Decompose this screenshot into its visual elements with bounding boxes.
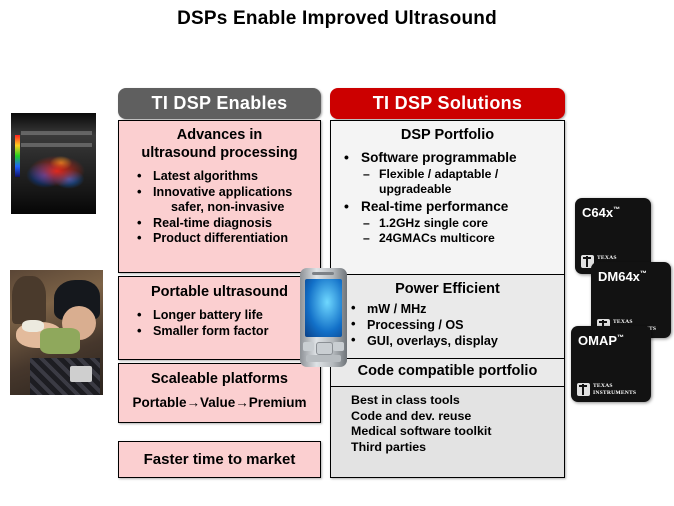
tab-ti-dsp-solutions[interactable]: TI DSP Solutions (330, 88, 565, 119)
section-power-efficient-title: Power Efficient (331, 275, 564, 297)
panel-portable-title: Portable ultrasound (119, 277, 320, 301)
panel-scaleable-platforms: Scaleable platforms Portable→Value→Premi… (118, 363, 321, 423)
panel-scaleable-title: Scaleable platforms (119, 364, 320, 388)
pda-speaker (312, 272, 334, 275)
pda-screen (305, 279, 342, 337)
ti-wordmark: TEXAS INSTRUMENTS (593, 383, 636, 396)
ultrasound-scan-render (11, 113, 96, 214)
list-item: 24GMACs multicore (341, 231, 564, 246)
list-item: mW / MHz (341, 301, 564, 317)
pda-button-left (303, 342, 314, 351)
ultrasound-band (21, 131, 92, 135)
list-item: Best in class tools (351, 393, 564, 409)
section-code-compatible-header: Code compatible portfolio (331, 359, 564, 387)
panel-faster-title: Faster time to market (119, 442, 320, 477)
list-item: Flexible / adaptable / (341, 167, 564, 182)
photo-garment (40, 328, 80, 354)
list-item: Processing / OS (341, 317, 564, 333)
panel-scaleable-progression: Portable→Value→Premium (119, 388, 320, 410)
list-item: Latest algorithms (137, 169, 320, 185)
chip-c64x-label: C64x™ (582, 205, 620, 220)
list-item: Longer battery life (137, 308, 320, 324)
handheld-pda-image (300, 268, 347, 367)
list-item: Code and dev. reuse (351, 409, 564, 425)
list-item: Smaller form factor (137, 324, 320, 340)
list-item: upgradeable (341, 182, 564, 197)
panel-advances-in-ultrasound-processing: Advances in ultrasound processing Latest… (118, 120, 321, 273)
panel-advances-title: Advances in ultrasound processing (119, 121, 320, 162)
photo-figure (12, 276, 46, 324)
list-item: Third parties (351, 440, 564, 456)
pda-dpad (316, 342, 333, 355)
pda-keys (306, 355, 341, 362)
ultrasound-colorbar (15, 135, 20, 177)
section-code-compatible-title: Code compatible portfolio (331, 359, 564, 379)
page-title: DSPs Enable Improved Ultrasound (0, 8, 674, 30)
panel-advances-title-line2: ultrasound processing (119, 144, 320, 162)
chip-dm64x-label: DM64x™ (598, 269, 647, 284)
panel-portable-list: Longer battery life Smaller form factor (119, 301, 320, 339)
section-dsp-portfolio: DSP Portfolio Software programmable Flex… (331, 121, 564, 275)
pda-button-right (333, 342, 344, 351)
list-item: GUI, overlays, display (341, 333, 564, 349)
section-dsp-portfolio-title: DSP Portfolio (331, 121, 564, 143)
list-item: safer, non-invasive (137, 200, 320, 216)
panel-advances-list: Latest algorithms Innovative application… (119, 162, 320, 247)
panel-faster-time-to-market: Faster time to market (118, 441, 321, 478)
panel-portable-ultrasound: Portable ultrasound Longer battery life … (118, 276, 321, 360)
chip-omap: OMAP™ TEXAS INSTRUMENTS (571, 326, 651, 402)
chip-omap-label: OMAP™ (578, 333, 624, 348)
section-power-efficient: Power Efficient mW / MHz Processing / OS… (331, 275, 564, 359)
list-item: Software programmable (341, 148, 564, 167)
code-compatible-items: Best in class tools Code and dev. reuse … (331, 387, 564, 455)
list-item: Product differentiation (137, 231, 320, 247)
list-item: Medical software toolkit (351, 424, 564, 440)
list-item: 1.2GHz single core (341, 216, 564, 231)
list-item: Innovative applications (137, 185, 320, 201)
list-item: Real-time performance (341, 197, 564, 216)
panel-advances-title-line1: Advances in (119, 126, 320, 144)
ti-logo: TEXAS INSTRUMENTS (577, 383, 636, 396)
ultrasound-scan-image (11, 113, 96, 214)
ultrasound-band (21, 143, 92, 147)
photo-device (70, 366, 92, 382)
section-dsp-portfolio-list: Software programmable Flexible / adaptab… (331, 143, 564, 246)
panel-ti-dsp-solutions: DSP Portfolio Software programmable Flex… (330, 120, 565, 478)
tab-ti-dsp-enables[interactable]: TI DSP Enables (118, 88, 321, 119)
ti-mark-icon (577, 383, 590, 396)
field-medical-photo (10, 270, 103, 395)
list-item: Real-time diagnosis (137, 216, 320, 232)
section-power-efficient-list: mW / MHz Processing / OS GUI, overlays, … (331, 297, 564, 349)
section-code-compatible-list: Best in class tools Code and dev. reuse … (331, 387, 564, 477)
